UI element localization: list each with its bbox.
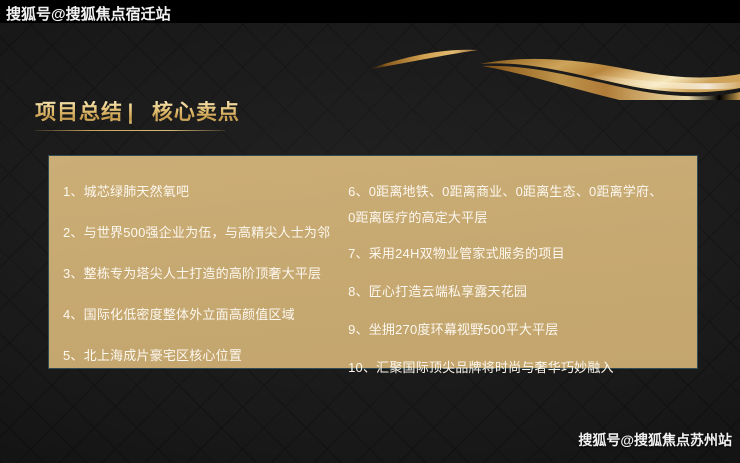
list-item: 8、匠心打造云端私享露天花园 bbox=[348, 283, 697, 301]
watermark-top-left: 搜狐号@搜狐焦点宿迁站 bbox=[6, 3, 171, 24]
selling-points-right-column: 6、0距离地铁、0距离商业、0距离生态、0距离学府、0距离医疗的高定大平层 7、… bbox=[348, 170, 697, 358]
list-item: 7、采用24H双物业管家式服务的项目 bbox=[348, 245, 697, 263]
slide-root: 项目总结 | 核心卖点 1、城芯绿肺天然氧吧 2、与世界500强企业为伍，与高精… bbox=[0, 0, 740, 463]
list-item: 9、坐拥270度环幕视野500平大平层 bbox=[348, 321, 697, 339]
list-item: 4、国际化低密度整体外立面高颜值区域 bbox=[63, 306, 348, 324]
list-item: 1、城芯绿肺天然氧吧 bbox=[63, 183, 348, 201]
selling-points-card: 1、城芯绿肺天然氧吧 2、与世界500强企业为伍，与高精尖人士为邻 3、整栋专为… bbox=[48, 155, 698, 369]
list-item: 10、汇聚国际顶尖品牌将时尚与奢华巧妙融入 bbox=[348, 359, 697, 377]
list-item: 2、与世界500强企业为伍，与高精尖人士为邻 bbox=[63, 224, 348, 242]
watermark-bottom-right: 搜狐号@搜狐焦点苏州站 bbox=[578, 430, 732, 450]
page-title-left: 项目总结 bbox=[35, 101, 123, 124]
list-item: 5、北上海成片豪宅区核心位置 bbox=[63, 347, 348, 365]
top-watermark-bar: 搜狐号@搜狐焦点宿迁站 bbox=[0, 0, 740, 23]
list-item: 3、整栋专为塔尖人士打造的高阶顶奢大平层 bbox=[63, 265, 348, 283]
page-title-underline bbox=[35, 130, 225, 131]
page-title-divider: | bbox=[127, 101, 147, 125]
selling-points-left-column: 1、城芯绿肺天然氧吧 2、与世界500强企业为伍，与高精尖人士为邻 3、整栋专为… bbox=[49, 170, 348, 358]
page-title: 项目总结 | 核心卖点 bbox=[35, 96, 240, 126]
page-title-right: 核心卖点 bbox=[152, 101, 240, 124]
list-item: 6、0距离地铁、0距离商业、0距离生态、0距离学府、0距离医疗的高定大平层 bbox=[348, 179, 668, 231]
